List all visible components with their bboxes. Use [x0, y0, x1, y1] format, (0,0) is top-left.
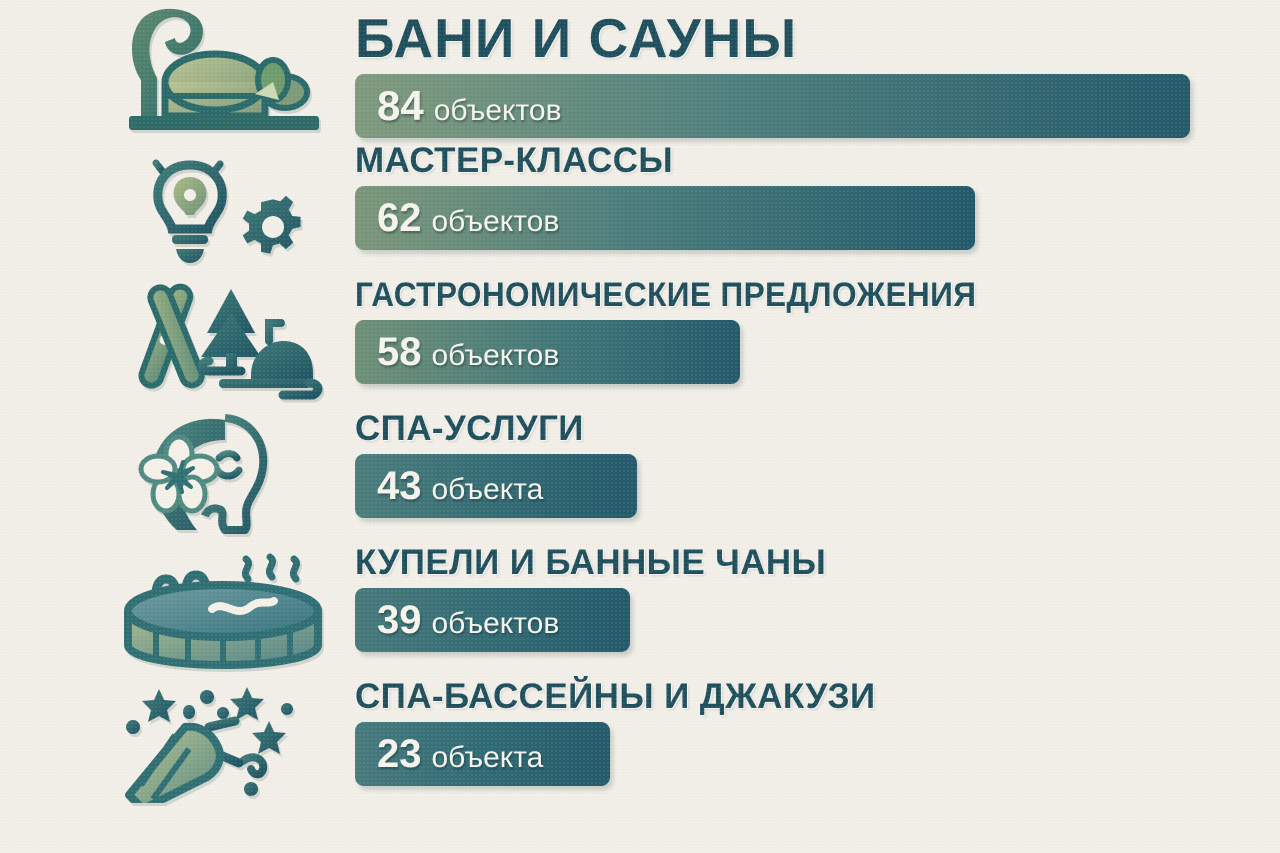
party-popper-icon — [118, 676, 328, 810]
stat-text: КУПЕЛИ И БАННЫЕ ЧАНЫ 39 объектов — [355, 542, 826, 652]
value-bar[interactable]: 58 объектов — [355, 320, 740, 384]
stat-row: СПА-БАССЕЙНЫ И ДЖАКУЗИ 23 объекта — [0, 676, 1280, 810]
row-heading: СПА-БАССЕЙНЫ И ДЖАКУЗИ — [355, 676, 876, 716]
value-number: 23 — [377, 734, 422, 774]
spa-woman-flower-icon — [118, 408, 328, 542]
bar-label: 39 объектов — [377, 600, 559, 640]
row-heading: СПА-УСЛУГИ — [355, 408, 637, 448]
value-bar[interactable]: 39 объектов — [355, 588, 630, 652]
value-number: 39 — [377, 600, 422, 640]
skis-snowmobile-icon — [118, 274, 328, 408]
stat-text: МАСТЕР-КЛАССЫ 62 объектов — [355, 140, 975, 250]
stat-row: МАСТЕР-КЛАССЫ 62 объектов — [0, 140, 1280, 274]
value-number: 84 — [377, 86, 424, 126]
stat-row: БАНИ И САУНЫ 84 объектов — [0, 6, 1280, 140]
value-number: 58 — [377, 332, 422, 372]
bar-label: 58 объектов — [377, 332, 559, 372]
lightbulb-gear-icon — [118, 140, 328, 274]
hot-tub-icon — [118, 542, 328, 676]
stat-text: ГАСТРОНОМИЧЕСКИЕ ПРЕДЛОЖЕНИЯ 58 объектов — [355, 274, 1023, 384]
value-unit: объектов — [432, 341, 560, 371]
row-heading: МАСТЕР-КЛАССЫ — [355, 140, 975, 180]
stat-row: КУПЕЛИ И БАННЫЕ ЧАНЫ 39 объектов — [0, 542, 1280, 676]
stat-text: СПА-УСЛУГИ 43 объекта — [355, 408, 637, 518]
row-heading: БАНИ И САУНЫ — [355, 6, 1190, 68]
value-unit: объектов — [432, 207, 560, 237]
value-number: 62 — [377, 198, 422, 238]
value-bar[interactable]: 62 объектов — [355, 186, 975, 250]
value-number: 43 — [377, 466, 422, 506]
row-heading: ГАСТРОНОМИЧЕСКИЕ ПРЕДЛОЖЕНИЯ — [355, 274, 976, 314]
value-bar[interactable]: 23 объекта — [355, 722, 610, 786]
value-unit: объектов — [432, 609, 560, 639]
bar-label: 43 объекта — [377, 466, 543, 506]
stat-row: СПА-УСЛУГИ 43 объекта — [0, 408, 1280, 542]
infographic-board: БАНИ И САУНЫ 84 объектов — [0, 0, 1280, 853]
value-bar[interactable]: 43 объекта — [355, 454, 637, 518]
bar-label: 23 объекта — [377, 734, 543, 774]
bar-label: 84 объектов — [377, 86, 562, 126]
row-heading: КУПЕЛИ И БАННЫЕ ЧАНЫ — [355, 542, 826, 582]
stat-text: БАНИ И САУНЫ 84 объектов — [355, 6, 1190, 138]
value-unit: объекта — [432, 743, 544, 773]
stat-row: ГАСТРОНОМИЧЕСКИЕ ПРЕДЛОЖЕНИЯ 58 объектов — [0, 274, 1280, 408]
stat-text: СПА-БАССЕЙНЫ И ДЖАКУЗИ 23 объекта — [355, 676, 876, 786]
value-unit: объектов — [434, 96, 562, 126]
sauna-bath-icon — [118, 6, 328, 140]
bar-label: 62 объектов — [377, 198, 559, 238]
value-bar[interactable]: 84 объектов — [355, 74, 1190, 138]
value-unit: объекта — [432, 475, 544, 505]
